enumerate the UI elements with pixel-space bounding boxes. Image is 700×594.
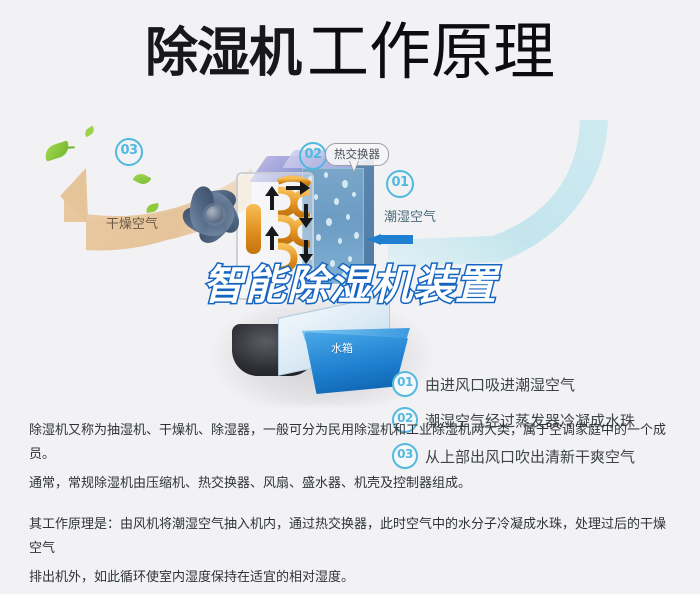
paragraph2-line1: 其工作原理是：由风机将潮湿空气抽入机内，通过热交换器，此时空气中的水分子冷凝成水… [29, 512, 673, 560]
fan-hub [206, 206, 223, 223]
water-tank-label: 水箱 [331, 340, 353, 356]
watermark-text: 智能除湿机装置 [203, 261, 497, 309]
step-text: 由进风口吸进潮湿空气 [425, 374, 575, 395]
diagram-badge-01: 01 [386, 170, 414, 198]
callout-tail [349, 161, 359, 173]
diagram-badge-02: 02 [299, 142, 327, 170]
fan-icon [166, 166, 262, 262]
diagram-stage: 02 热交换器 03 干燥空气 01 潮湿空气 水箱 01 由进风口吸进潮湿空气… [0, 118, 700, 398]
humid-air-label: 潮湿空气 [384, 206, 436, 225]
leaf-icon [83, 126, 96, 138]
dry-air-label: 干燥空气 [106, 213, 158, 232]
leaf-icon [42, 140, 71, 161]
page-title-part2: 工作原理 [307, 18, 555, 87]
page-title: 除湿机工作原理 [0, 22, 700, 84]
body-description: 除湿机又称为抽湿机、干燥机、除湿器，一般可分为民用除湿机和工业除湿机两大类，属于… [29, 418, 673, 594]
infographic-root: 除湿机工作原理 [0, 0, 700, 566]
air-inlet-arrow [367, 234, 413, 245]
page-title-part1: 除湿机 [145, 24, 301, 83]
list-item: 01 由进风口吸进潮湿空气 [392, 366, 692, 402]
step-badge: 01 [392, 371, 418, 397]
diagram-badge-03: 03 [115, 138, 143, 166]
paragraph1-line1: 除湿机又称为抽湿机、干燥机、除湿器，一般可分为民用除湿机和工业除湿机两大类，属于… [29, 418, 673, 466]
watermark-overlay: 智能除湿机装置 [0, 265, 700, 306]
paragraph2-line2: 排出机外，如此循环使室内湿度保持在适宜的相对湿度。 [29, 565, 673, 589]
paragraph1-line2: 通常，常规除湿机由压缩机、热交换器、风扇、盛水器、机壳及控制器组成。 [29, 471, 673, 495]
